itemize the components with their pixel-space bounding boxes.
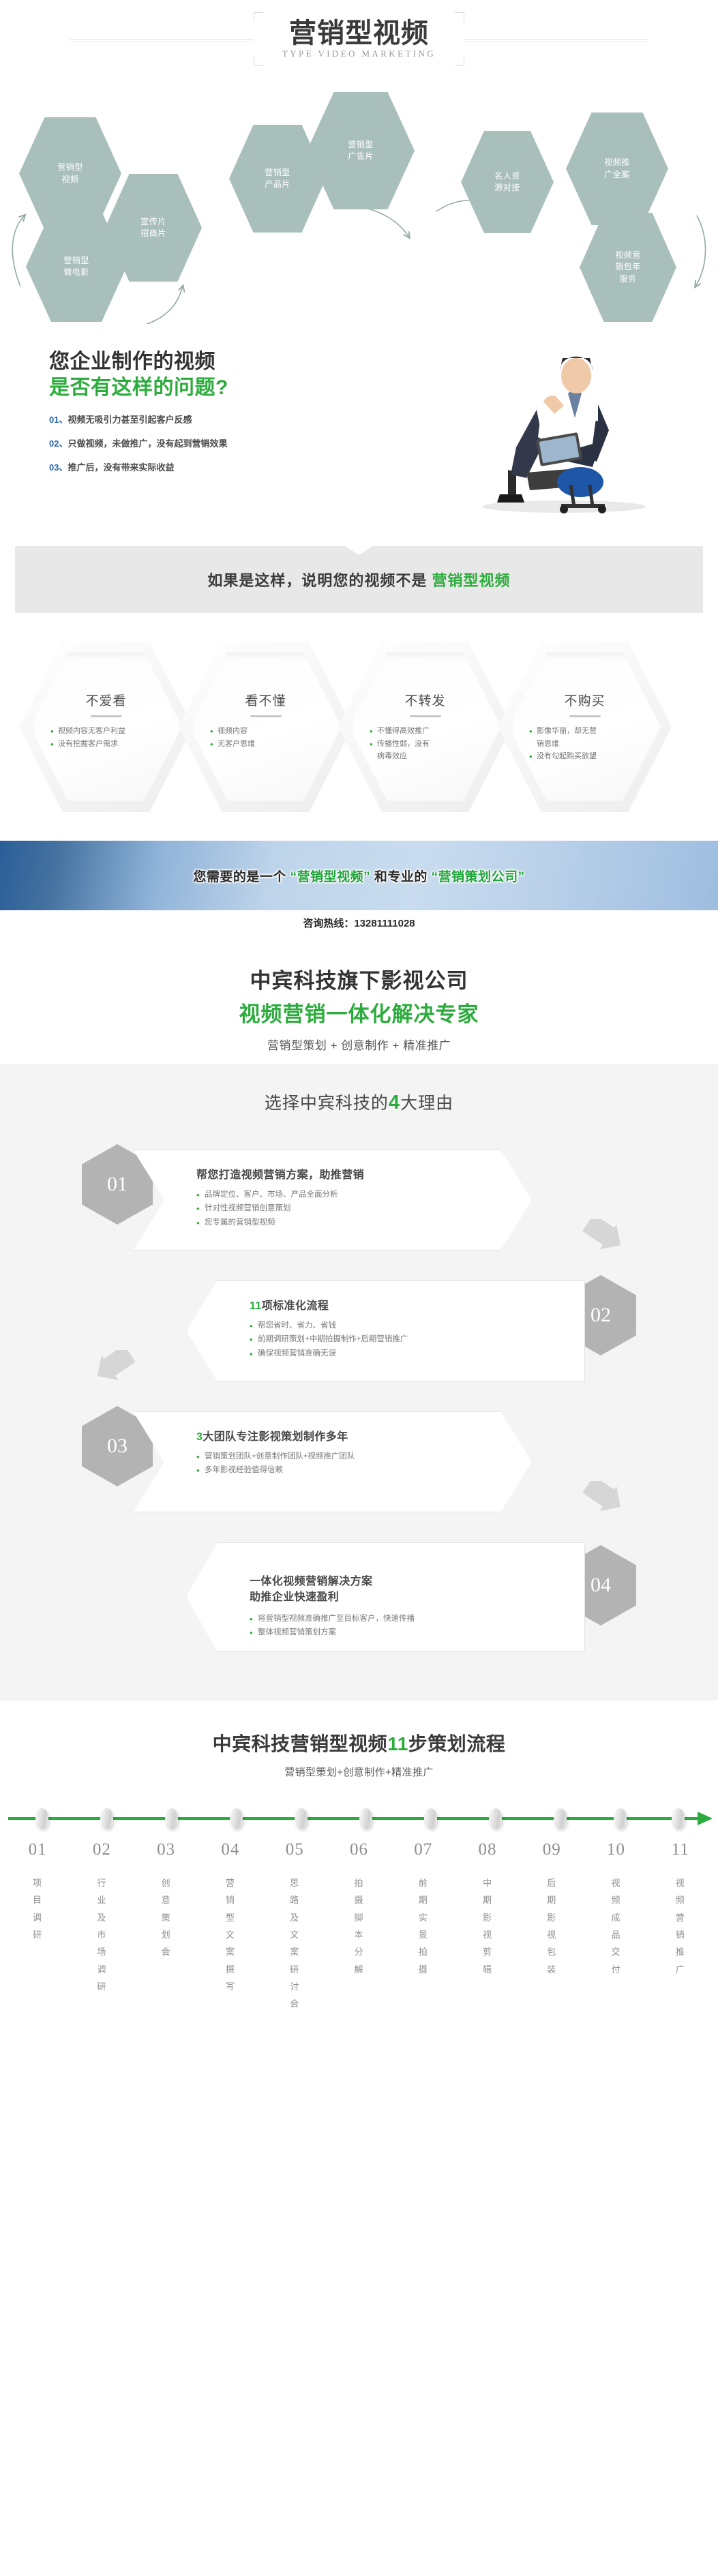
hex-item-label: 营销型 视频 bbox=[57, 162, 83, 185]
list-item: 帮您省时、省力、省钱 bbox=[250, 1319, 584, 1332]
timeline-node bbox=[489, 1808, 502, 1829]
timeline-node bbox=[672, 1808, 685, 1829]
gray-banner-text: 如果是这样，说明您的视频不是 营销型视频 bbox=[207, 569, 510, 590]
reason-card-title: 一体化视频营销解决方案 助推企业快速盈利 bbox=[250, 1558, 584, 1606]
company-line1: 中宾科技旗下影视公司 bbox=[0, 963, 718, 994]
list-item: 02、只做视频，未做推广，没有起到营销效果 bbox=[49, 436, 227, 449]
reason-card-0[interactable]: 帮您打造视频营销方案，助推营销 品牌定位、客户、市场、产品全面分析 针对性视频营… bbox=[133, 1150, 532, 1250]
reason-title-highlight: 3 bbox=[196, 1431, 203, 1443]
service-hex-cluster: 营销型 视频 宣传片 招商片 营销型 产品片 营销型 广告片 名人资 源对接 视… bbox=[0, 82, 718, 324]
problem-card-title: 不爱看 bbox=[30, 691, 182, 709]
step-label: 营 销 型 文 案 撰 写 bbox=[198, 1874, 263, 1995]
reason-number: 01 bbox=[107, 1173, 128, 1196]
problem-card-bullets: 影像华丽，却无营 销思维 没有勾起购买欲望 bbox=[509, 725, 661, 763]
list-item: 病毒效应 bbox=[370, 750, 481, 763]
timeline-node bbox=[165, 1808, 178, 1829]
intro-item-text: 视频无吸引力甚至引起客户反感 bbox=[68, 415, 192, 425]
timeline-arrowhead-icon bbox=[698, 1812, 713, 1825]
list-item: 整体视频营销策划方案 bbox=[250, 1626, 584, 1639]
problem-card-1[interactable]: 看不懂 视频内容 无客户思维 bbox=[179, 642, 353, 812]
blue-banner-part1: 您需要的是一个 bbox=[193, 870, 290, 884]
step-number: 01 bbox=[5, 1840, 70, 1859]
list-item: 多年影视经验值得信赖 bbox=[196, 1463, 531, 1477]
reason-title-text: 项标准化流程 bbox=[262, 1300, 329, 1312]
timeline-node bbox=[424, 1808, 437, 1829]
timeline-node bbox=[614, 1808, 627, 1829]
intro-item-text: 推广后，没有带来实际收益 bbox=[68, 462, 174, 473]
intro-headline-line2: 是否有这样的问题? bbox=[49, 370, 228, 400]
step-label: 视 频 成 品 交 付 bbox=[584, 1874, 648, 1978]
list-item: 视频内容 bbox=[210, 725, 321, 738]
page-subtitle: TYPE VIDEO MARKETING bbox=[282, 48, 436, 59]
corner-bracket-top-left-icon bbox=[254, 12, 263, 22]
reason-card-bullets: 品牌定位、客户、市场、产品全面分析 针对性视频营销创意策划 您专属的营销型视频 bbox=[196, 1188, 531, 1229]
timeline-node bbox=[100, 1808, 113, 1829]
steps-timeline-track bbox=[0, 1806, 718, 1829]
blue-banner-quote1: “营销型视频” bbox=[290, 870, 371, 884]
reason-title-highlight: 11 bbox=[250, 1300, 262, 1312]
marketing-video-landing-page: 营销型视频 TYPE VIDEO MARKETING 营销型 bbox=[0, 0, 718, 2014]
problem-card-bullets: 不懂得高效推广 传播性弱，没有 病毒效应 bbox=[349, 725, 501, 763]
reasons-heading-number: 4 bbox=[389, 1092, 400, 1113]
reason-card-title: 帮您打造视频营销方案，助推营销 bbox=[196, 1165, 531, 1182]
step-item-2[interactable]: 03 创 意 策 划 会 bbox=[134, 1840, 198, 2013]
company-line3: 营销型策划 + 创意制作 + 精准推广 bbox=[0, 1036, 718, 1053]
step-item-1[interactable]: 02 行 业 及 市 场 调 研 bbox=[70, 1840, 134, 2013]
list-item: 01、视频无吸引力甚至引起客户反感 bbox=[49, 413, 227, 425]
company-intro-section: 中宾科技旗下影视公司 视频营销一体化解决专家 营销型策划 + 创意制作 + 精准… bbox=[0, 951, 718, 1064]
step-item-0[interactable]: 01 项 目 调 研 bbox=[5, 1840, 70, 2013]
problem-card-2[interactable]: 不转发 不懂得高效推广 传播性弱，没有 病毒效应 bbox=[338, 642, 512, 812]
list-item: 影像华丽，却无营 bbox=[529, 725, 640, 738]
step-item-9[interactable]: 10 视 频 成 品 交 付 bbox=[584, 1840, 648, 2013]
step-number: 11 bbox=[648, 1840, 713, 1859]
reason-card-1[interactable]: 11项标准化流程 帮您省时、省力、省钱 前期调研策划+中期拍摄制作+后期营销推广… bbox=[186, 1280, 585, 1381]
problem-card-divider bbox=[569, 715, 601, 717]
problem-card-bullets: 视频内容 无客户思维 bbox=[190, 725, 342, 750]
list-item: 品牌定位、客户、市场、产品全面分析 bbox=[196, 1188, 531, 1201]
reason-card-bullets: 营销策划团队+创意制作团队+视频推广团队 多年影视经验值得信赖 bbox=[196, 1450, 531, 1478]
header-rule-left bbox=[70, 39, 254, 40]
company-line2: 视频营销一体化解决专家 bbox=[0, 997, 718, 1028]
step-label: 创 意 策 划 会 bbox=[134, 1874, 198, 1961]
problem-card-3[interactable]: 不购买 影像华丽，却无营 销思维 没有勾起购买欲望 bbox=[498, 642, 672, 812]
step-item-5[interactable]: 06 拍 摄 脚 本 分 解 bbox=[327, 1840, 391, 2013]
step-item-3[interactable]: 04 营 销 型 文 案 撰 写 bbox=[198, 1840, 263, 2013]
blue-cta-banner: 您需要的是一个 “营销型视频” 和专业的 “营销策划公司” 咨询热线：13281… bbox=[0, 828, 718, 951]
blue-banner-quote2: “营销策划公司” bbox=[432, 870, 525, 884]
reasons-heading-post: 大理由 bbox=[400, 1094, 453, 1113]
timeline-node bbox=[35, 1808, 48, 1829]
reason-number: 02 bbox=[590, 1304, 611, 1327]
step-number: 03 bbox=[134, 1840, 198, 1859]
flow-arrow-down-left-icon bbox=[89, 1350, 136, 1391]
page-header: 营销型视频 TYPE VIDEO MARKETING bbox=[0, 0, 718, 82]
step-label: 思 路 及 文 案 研 讨 会 bbox=[263, 1874, 327, 2013]
steps-subheading: 营销型策划+创意制作+精准推广 bbox=[0, 1765, 718, 1779]
steps-columns: 01 项 目 调 研 02 行 业 及 市 场 调 研 03 创 意 策 划 会… bbox=[0, 1840, 718, 2013]
intro-item-number: 02、 bbox=[49, 438, 68, 449]
step-number: 09 bbox=[520, 1840, 584, 1859]
problem-cards-section: 不爱看 视频内容无客户利益 没有挖掘客户需求 看不懂 视频内容 无客户思维 不转… bbox=[0, 631, 718, 828]
reason-title-text: 帮您打造视频营销方案，助推营销 bbox=[196, 1169, 364, 1181]
intro-problem-list: 01、视频无吸引力甚至引起客户反感 02、只做视频，未做推广，没有起到营销效果 … bbox=[49, 413, 227, 484]
problem-card-bullets: 视频内容无客户利益 没有挖掘客户需求 bbox=[30, 725, 182, 750]
problem-card-divider bbox=[410, 715, 441, 717]
step-number: 02 bbox=[70, 1840, 134, 1859]
list-item: 不懂得高效推广 bbox=[370, 725, 481, 738]
timeline-node bbox=[295, 1808, 308, 1829]
gray-banner-prefix: 如果是这样，说明您的视频不是 bbox=[207, 572, 432, 589]
reason-card-2[interactable]: 3大团队专注影视策划制作多年 营销策划团队+创意制作团队+视频推广团队 多年影视… bbox=[133, 1411, 532, 1512]
gray-band: 如果是这样，说明您的视频不是 营销型视频 bbox=[15, 546, 703, 613]
step-label: 后 期 影 视 包 装 bbox=[520, 1874, 584, 1978]
step-label: 前 期 实 景 拍 摄 bbox=[391, 1874, 455, 1978]
step-number: 05 bbox=[263, 1840, 327, 1859]
header-title-frame: 营销型视频 TYPE VIDEO MARKETING bbox=[254, 15, 464, 63]
step-number: 07 bbox=[391, 1840, 455, 1859]
problem-card-inner: 不购买 影像华丽，却无营 销思维 没有勾起购买欲望 bbox=[509, 653, 661, 801]
intro-item-text: 只做视频，未做推广，没有起到营销效果 bbox=[68, 438, 227, 449]
step-number: 04 bbox=[198, 1840, 263, 1859]
step-number: 06 bbox=[327, 1840, 391, 1859]
list-item: 无客户思维 bbox=[210, 738, 321, 751]
timeline-node bbox=[554, 1808, 567, 1829]
corner-bracket-bottom-right-icon bbox=[455, 57, 464, 66]
problem-card-0[interactable]: 不爱看 视频内容无客户利益 没有挖掘客户需求 bbox=[19, 642, 193, 812]
list-item: 没有勾起购买欲望 bbox=[529, 750, 640, 763]
steps-heading-pre: 中宾科技营销型视频 bbox=[213, 1733, 388, 1754]
step-label: 项 目 调 研 bbox=[5, 1874, 70, 1943]
intro-item-number: 03、 bbox=[49, 462, 68, 473]
reason-row-0: 01 帮您打造视频营销方案，助推营销 品牌定位、客户、市场、产品全面分析 针对性… bbox=[0, 1139, 718, 1255]
header-wrap: 营销型视频 TYPE VIDEO MARKETING bbox=[0, 15, 718, 63]
list-item: 前期调研策划+中期拍摄制作+后期营销推广 bbox=[250, 1332, 584, 1346]
step-item-6[interactable]: 07 前 期 实 景 拍 摄 bbox=[391, 1840, 455, 2013]
flow-arrow-down-right-icon bbox=[582, 1219, 629, 1260]
hex-item-label: 宣传片 招商片 bbox=[140, 216, 166, 240]
flow-arrow-down-right-icon bbox=[582, 1481, 629, 1522]
problem-card-inner: 看不懂 视频内容 无客户思维 bbox=[190, 653, 342, 801]
steps-section: 中宾科技营销型视频11步策划流程 营销型策划+创意制作+精准推广 01 项 目 … bbox=[0, 1701, 718, 2014]
steps-heading-number: 11 bbox=[387, 1733, 408, 1754]
hex-item-label: 营销型 产品片 bbox=[265, 167, 290, 191]
step-number: 08 bbox=[455, 1840, 520, 1859]
list-item: 传播性弱，没有 bbox=[370, 738, 481, 751]
intro-item-number: 01、 bbox=[49, 415, 68, 425]
list-item: 视频内容无客户利益 bbox=[50, 725, 162, 738]
corner-bracket-bottom-left-icon bbox=[254, 57, 263, 66]
reason-number: 04 bbox=[590, 1574, 611, 1597]
problem-card-title: 看不懂 bbox=[190, 691, 342, 709]
list-item: 没有挖掘客户需求 bbox=[50, 738, 162, 751]
reason-number: 03 bbox=[107, 1435, 128, 1458]
step-item-7[interactable]: 08 中 期 影 视 剪 辑 bbox=[455, 1840, 520, 2013]
hex-item-label: 视频营 销包年 服务 bbox=[615, 250, 641, 285]
steps-heading: 中宾科技营销型视频11步策划流程 bbox=[0, 1729, 718, 1756]
problem-card-divider bbox=[91, 715, 122, 717]
list-item: 销思维 bbox=[529, 738, 640, 751]
timeline-node bbox=[230, 1808, 243, 1829]
reason-card-title: 11项标准化流程 bbox=[250, 1296, 584, 1313]
businessman-on-chair-photo bbox=[434, 328, 659, 515]
reason-card-bullets: 将营销型视频准确推广至目标客户，快速传播 整体视频营销策划方案 bbox=[250, 1612, 584, 1640]
blue-banner-text: 您需要的是一个 “营销型视频” 和专业的 “营销策划公司” bbox=[193, 867, 524, 885]
reason-row-2: 03 3大团队专注影视策划制作多年 营销策划团队+创意制作团队+视频推广团队 多… bbox=[0, 1401, 718, 1516]
problem-card-divider bbox=[250, 715, 282, 717]
problem-card-inner: 不转发 不懂得高效推广 传播性弱，没有 病毒效应 bbox=[349, 653, 501, 801]
step-label: 视 频 营 销 推 广 bbox=[648, 1874, 713, 1978]
reason-row-1: 02 11项标准化流程 帮您省时、省力、省钱 前期调研策划+中期拍摄制作+后期营… bbox=[0, 1270, 718, 1386]
hex-item-label: 名人资 源对接 bbox=[494, 170, 520, 194]
reason-card-bullets: 帮您省时、省力、省钱 前期调研策划+中期拍摄制作+后期营销推广 确保视频营销准确… bbox=[250, 1319, 584, 1360]
step-label: 行 业 及 市 场 调 研 bbox=[70, 1874, 134, 1995]
problem-card-inner: 不爱看 视频内容无客户利益 没有挖掘客户需求 bbox=[30, 653, 182, 801]
step-number: 10 bbox=[584, 1840, 648, 1859]
step-item-10[interactable]: 11 视 频 营 销 推 广 bbox=[648, 1840, 713, 2013]
gray-statement-banner: 如果是这样，说明您的视频不是 营销型视频 bbox=[0, 528, 718, 631]
blue-band: 您需要的是一个 “营销型视频” 和专业的 “营销策划公司” bbox=[0, 841, 718, 910]
list-item: 将营销型视频准确推广至目标客户，快速传播 bbox=[250, 1612, 584, 1626]
problem-card-title: 不购买 bbox=[509, 691, 661, 709]
list-item: 针对性视频营销创意策划 bbox=[196, 1201, 531, 1215]
page-title: 营销型视频 bbox=[282, 19, 436, 48]
list-item: 确保视频营销准确无误 bbox=[250, 1347, 584, 1360]
reason-row-3: 04 一体化视频营销解决方案 助推企业快速盈利 将营销型视频准确推广至目标客户，… bbox=[0, 1531, 718, 1653]
step-label: 拍 摄 脚 本 分 解 bbox=[327, 1874, 391, 1978]
problem-card-title: 不转发 bbox=[349, 691, 501, 709]
header-rule-right bbox=[464, 39, 648, 40]
step-item-4[interactable]: 05 思 路 及 文 案 研 讨 会 bbox=[263, 1840, 327, 2013]
list-item: 您专属的营销型视频 bbox=[196, 1216, 531, 1229]
list-item: 营销策划团队+创意制作团队+视频推广团队 bbox=[196, 1450, 531, 1463]
reasons-heading-pre: 选择中宾科技的 bbox=[265, 1094, 389, 1113]
problem-intro-section: 您企业制作的视频 是否有这样的问题? 01、视频无吸引力甚至引起客户反感 02、… bbox=[0, 324, 718, 528]
list-item: 03、推广后，没有带来实际收益 bbox=[49, 460, 227, 473]
reason-title-text: 大团队专注影视策划制作多年 bbox=[203, 1431, 348, 1443]
steps-heading-post: 步策划流程 bbox=[408, 1733, 506, 1754]
step-item-8[interactable]: 09 后 期 影 视 包 装 bbox=[520, 1840, 584, 2013]
reason-card-3[interactable]: 一体化视频营销解决方案 助推企业快速盈利 将营销型视频准确推广至目标客户，快速传… bbox=[186, 1542, 585, 1651]
hex-item-label: 营销型 微电影 bbox=[63, 255, 89, 279]
blue-banner-part2: 和专业的 bbox=[370, 870, 432, 884]
timeline-node bbox=[359, 1808, 372, 1829]
reason-title-text: 一体化视频营销解决方案 助推企业快速盈利 bbox=[250, 1576, 372, 1603]
hotline-text[interactable]: 咨询热线：13281111028 bbox=[0, 916, 718, 930]
hex-item-label: 营销型 广告片 bbox=[348, 139, 374, 163]
corner-bracket-top-right-icon bbox=[455, 12, 464, 22]
gray-banner-highlight: 营销型视频 bbox=[432, 572, 511, 589]
reason-card-title: 3大团队专注影视策划制作多年 bbox=[196, 1427, 531, 1443]
reasons-heading: 选择中宾科技的4大理由 bbox=[0, 1090, 718, 1114]
reasons-section: 选择中宾科技的4大理由 01 帮您打造视频营销方案，助推营销 品牌定位、客户、市… bbox=[0, 1064, 718, 1701]
step-label: 中 期 影 视 剪 辑 bbox=[455, 1874, 520, 1978]
hex-item-label: 视频推 广全案 bbox=[604, 157, 630, 181]
